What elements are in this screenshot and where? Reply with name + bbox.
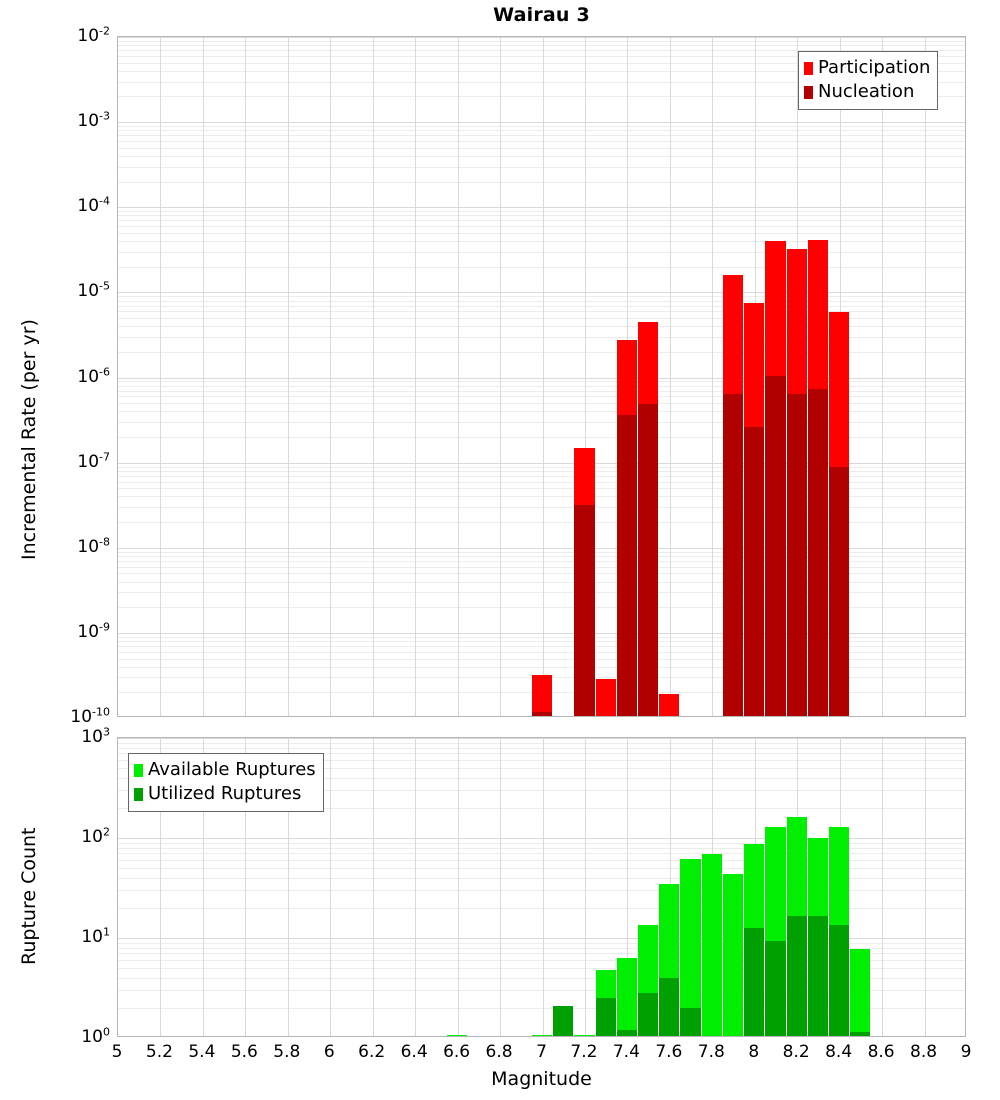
bar-nucleation: [787, 394, 807, 716]
x-axis-tick-label: 7.8: [698, 1042, 725, 1062]
y-axis-tick-label: 10-6: [77, 367, 110, 387]
y-axis-tick-label: 103: [81, 727, 110, 747]
bar-available-ruptures: [532, 1035, 552, 1036]
bar-available-ruptures: [723, 874, 743, 1036]
top-chart-bars: [118, 37, 965, 716]
bar-nucleation: [638, 404, 658, 716]
x-axis-tick-label: 8.4: [825, 1042, 852, 1062]
y-axis-tick-label: 10-2: [77, 26, 110, 46]
bar-nucleation: [574, 505, 594, 716]
x-axis-tick-label: 6.8: [486, 1042, 513, 1062]
bar-utilized-ruptures: [617, 1030, 637, 1036]
x-axis-tick-label: 5.8: [273, 1042, 300, 1062]
bar-utilized-ruptures: [850, 1032, 870, 1036]
bar-participation: [659, 694, 679, 716]
x-axis-tick-label: 8.8: [910, 1042, 937, 1062]
x-axis-tick-label: 8.2: [783, 1042, 810, 1062]
y-axis-tick-label: 102: [81, 827, 110, 847]
bar-utilized-ruptures: [659, 978, 679, 1036]
legend-swatch-utilized-ruptures: [134, 788, 143, 801]
bottom-chart-ytick-labels: 103102101100: [48, 737, 110, 1037]
bar-nucleation: [723, 394, 743, 716]
y-axis-tick-label: 100: [81, 1027, 110, 1047]
page-title: Wairau 3: [117, 4, 966, 26]
x-axis-tick-label: 5.6: [231, 1042, 258, 1062]
y-axis-tick-label: 10-4: [77, 196, 110, 216]
bottom-chart-legend: Available Ruptures Utilized Ruptures: [128, 753, 324, 812]
legend-label-nucleation: Nucleation: [818, 83, 914, 101]
top-chart-ylabel: Incremental Rate (per yr): [18, 319, 40, 560]
bar-utilized-ruptures: [808, 916, 828, 1036]
bar-nucleation: [808, 389, 828, 716]
top-chart-ytick-labels: 10-210-310-410-510-610-710-810-910-10: [48, 36, 110, 717]
bar-available-ruptures: [574, 1035, 594, 1036]
top-chart-plot-area: [117, 36, 966, 717]
bar-nucleation: [532, 712, 552, 716]
x-axis-tick-label: 5.2: [146, 1042, 173, 1062]
x-axis-tick-label: 6.4: [401, 1042, 428, 1062]
bottom-chart-ylabel: Rupture Count: [18, 828, 40, 966]
bar-available-ruptures: [850, 949, 870, 1037]
y-axis-tick-label: 101: [81, 927, 110, 947]
x-axis-tick-label: 9: [961, 1042, 972, 1062]
bar-participation: [596, 679, 616, 716]
y-axis-tick-label: 10-3: [77, 111, 110, 131]
legend-label-utilized-ruptures: Utilized Ruptures: [148, 785, 301, 803]
x-axis-tick-label: 7: [536, 1042, 547, 1062]
bar-available-ruptures: [702, 854, 722, 1036]
y-axis-tick-label: 10-8: [77, 537, 110, 557]
legend-item-nucleation: Nucleation: [804, 80, 930, 104]
x-axis-tick-label: 6.2: [358, 1042, 385, 1062]
x-axis-tick-label: 5.4: [188, 1042, 215, 1062]
bar-utilized-ruptures: [596, 998, 616, 1036]
bar-nucleation: [617, 415, 637, 716]
x-axis-label: Magnitude: [117, 1068, 966, 1090]
bar-available-ruptures: [447, 1035, 467, 1036]
top-chart-legend: Participation Nucleation: [798, 51, 938, 110]
y-axis-tick-label: 10-5: [77, 281, 110, 301]
bar-nucleation: [829, 467, 849, 716]
y-axis-tick-label: 10-7: [77, 452, 110, 472]
legend-label-participation: Participation: [818, 59, 930, 77]
figure-root: Wairau 3 Participation Nucleation 10-210…: [0, 0, 1000, 1100]
legend-swatch-participation: [804, 62, 813, 75]
x-axis-tick-label: 7.2: [570, 1042, 597, 1062]
legend-swatch-available-ruptures: [134, 764, 143, 777]
y-axis-tick-label: 10-10: [70, 707, 110, 727]
legend-label-available-ruptures: Available Ruptures: [148, 761, 316, 779]
bar-utilized-ruptures: [638, 993, 658, 1036]
bar-available-ruptures: [617, 958, 637, 1036]
legend-swatch-nucleation: [804, 86, 813, 99]
bar-utilized-ruptures: [765, 941, 785, 1036]
bar-utilized-ruptures: [744, 928, 764, 1036]
bar-utilized-ruptures: [553, 1006, 573, 1036]
x-axis-tick-label: 7.4: [613, 1042, 640, 1062]
x-axis-tick-label: 8.6: [868, 1042, 895, 1062]
bar-utilized-ruptures: [829, 925, 849, 1036]
y-axis-tick-label: 10-9: [77, 622, 110, 642]
x-axis-tick-label: 5: [112, 1042, 123, 1062]
legend-item-available-ruptures: Available Ruptures: [134, 758, 316, 782]
bar-participation: [532, 675, 552, 716]
x-axis-tick-label: 8: [748, 1042, 759, 1062]
bar-utilized-ruptures: [680, 1008, 700, 1036]
bar-utilized-ruptures: [787, 916, 807, 1036]
x-axis-tick-label: 7.6: [655, 1042, 682, 1062]
bar-nucleation: [744, 427, 764, 716]
legend-item-participation: Participation: [804, 56, 930, 80]
bar-nucleation: [765, 376, 785, 717]
x-axis-tick-label: 6: [324, 1042, 335, 1062]
x-axis-tick-label: 6.6: [443, 1042, 470, 1062]
legend-item-utilized-ruptures: Utilized Ruptures: [134, 782, 316, 806]
